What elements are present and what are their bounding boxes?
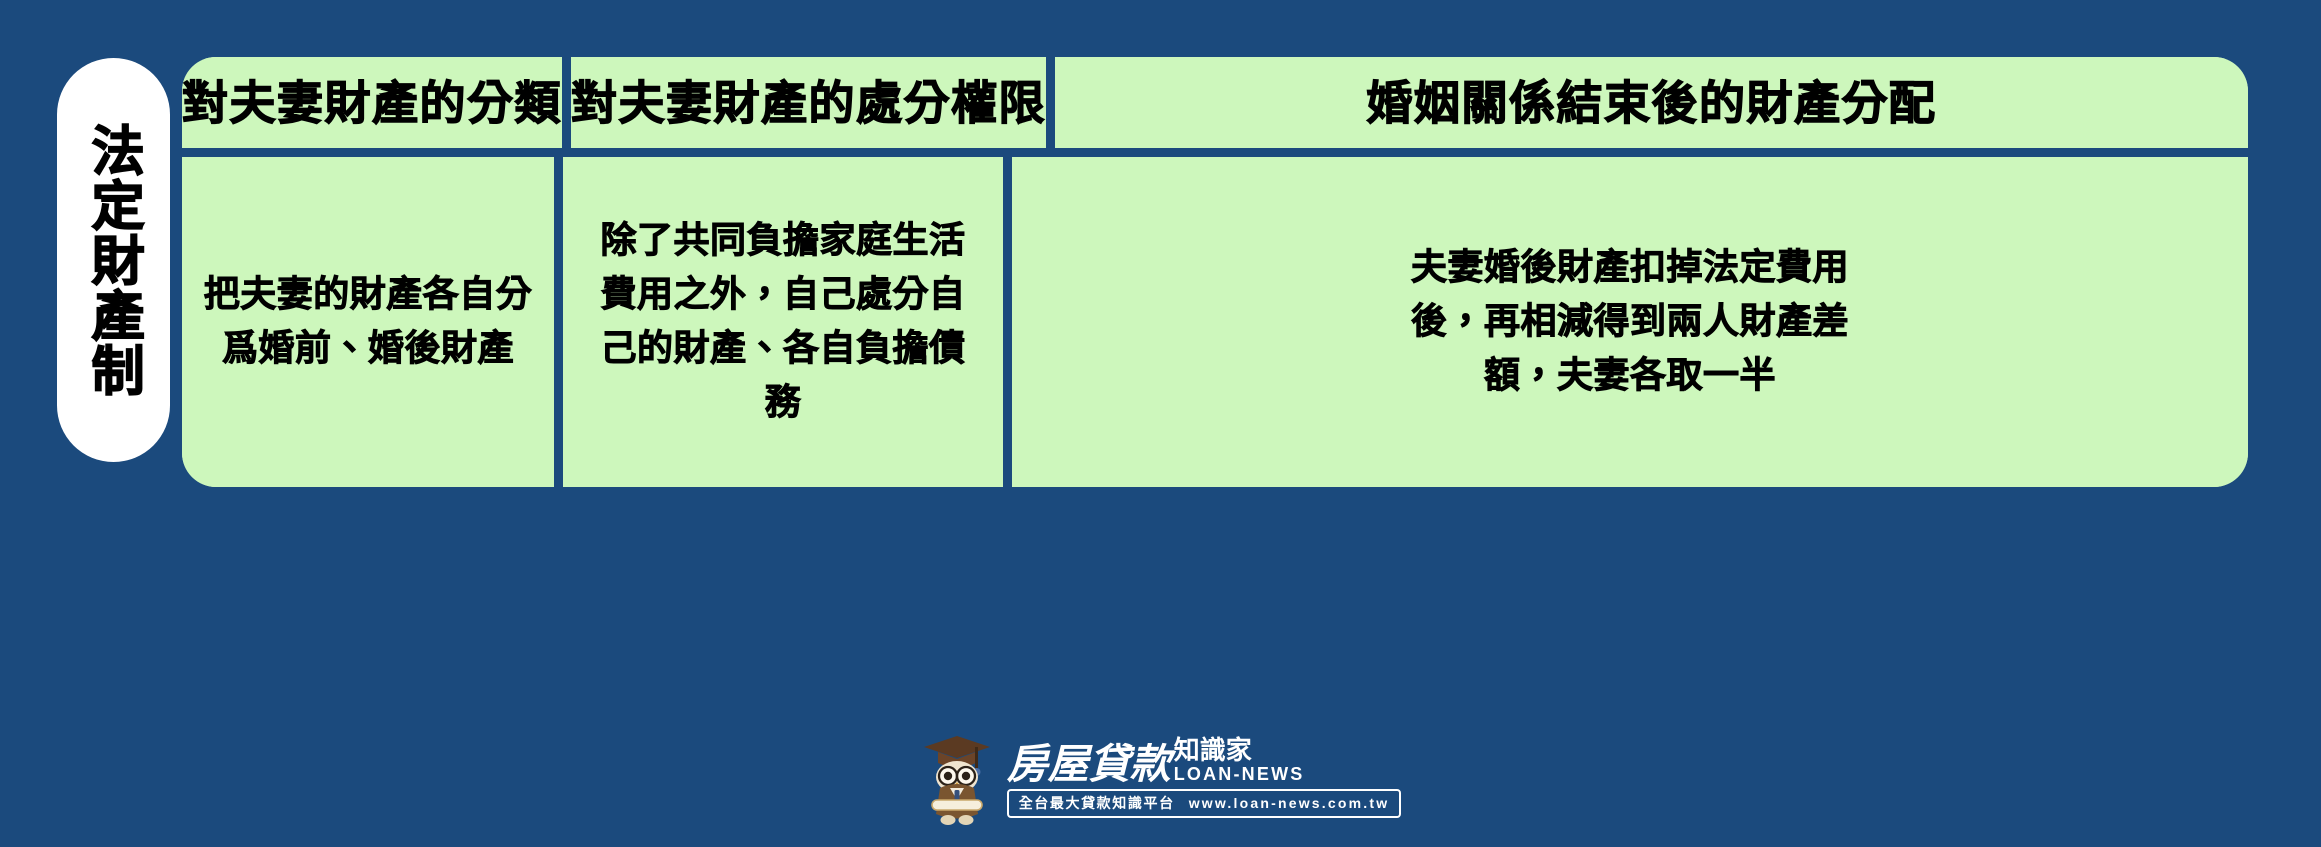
table-header-cell-3: 婚姻關係結束後的財產分配 — [1055, 57, 2248, 148]
brand-lockup: 房屋貸款 知識家 LOAN-NEWS 全台最大貸款知識平台 www.loan-n… — [920, 730, 1402, 826]
column-divider-1 — [562, 57, 571, 148]
brand-website-url[interactable]: www.loan-news.com.tw — [1189, 795, 1390, 811]
side-label-pill: 法定財產制 — [57, 58, 170, 462]
table-grid: 對夫妻財產的分類 對夫妻財產的處分權限 婚姻關係結束後的財產分配 把夫妻的財產各… — [182, 57, 2248, 487]
table-header-cell-2: 對夫妻財產的處分權限 — [571, 57, 1046, 148]
brand-name-sub-wrap: 知識家 LOAN-NEWS — [1174, 738, 1305, 785]
column-divider-4 — [1003, 157, 1012, 487]
owl-graduate-icon — [920, 730, 994, 826]
table-header-row: 對夫妻財產的分類 對夫妻財產的處分權限 婚姻關係結束後的財產分配 — [182, 57, 2248, 148]
table-header-cell-1: 對夫妻財產的分類 — [182, 57, 562, 148]
table-body-cell-2: 除了共同負擔家庭生活費用之外，自己處分自己的財產、各自負擔債務 — [563, 157, 1003, 487]
brand-name-sub-cn: 知識家 — [1174, 738, 1252, 765]
table-header-label-3: 婚姻關係結束後的財產分配 — [1367, 80, 1937, 126]
table-body-text-3: 夫妻婚後財產扣掉法定費用後，再相減得到兩人財產差額，夫妻各取一半 — [1410, 241, 1850, 403]
table-body-row: 把夫妻的財產各自分爲婚前、婚後財產 除了共同負擔家庭生活費用之外，自己處分自己的… — [182, 157, 2248, 487]
brand-name-main: 房屋貸款 — [1007, 744, 1171, 785]
header-body-divider — [182, 148, 2248, 157]
footer-branding: 房屋貸款 知識家 LOAN-NEWS 全台最大貸款知識平台 www.loan-n… — [0, 723, 2321, 833]
infographic-root: 法定財產制 對夫妻財產的分類 對夫妻財產的處分權限 婚姻關係結束後的財產分配 — [0, 0, 2321, 847]
column-divider-3 — [554, 157, 563, 487]
column-divider-2 — [1046, 57, 1055, 148]
comparison-table: 對夫妻財產的分類 對夫妻財產的處分權限 婚姻關係結束後的財產分配 把夫妻的財產各… — [182, 57, 2248, 487]
brand-tagline-bar: 全台最大貸款知識平台 www.loan-news.com.tw — [1007, 789, 1402, 818]
table-body-text-1: 把夫妻的財產各自分爲婚前、婚後財產 — [203, 268, 533, 376]
table-body-cell-3: 夫妻婚後財產扣掉法定費用後，再相減得到兩人財產差額，夫妻各取一半 — [1012, 157, 2248, 487]
brand-tagline-text: 全台最大貸款知識平台 — [1019, 793, 1175, 813]
brand-name-row: 房屋貸款 知識家 LOAN-NEWS — [1007, 738, 1305, 786]
side-label-text: 法定財產制 — [85, 123, 142, 398]
brand-name-sub-en: LOAN-NEWS — [1174, 765, 1305, 785]
table-body-text-2: 除了共同負擔家庭生活費用之外，自己處分自己的財產、各自負擔債務 — [583, 214, 983, 430]
table-header-label-1: 對夫妻財產的分類 — [182, 80, 562, 126]
table-header-label-2: 對夫妻財產的處分權限 — [571, 80, 1046, 126]
brand-text-block: 房屋貸款 知識家 LOAN-NEWS 全台最大貸款知識平台 www.loan-n… — [1007, 738, 1402, 819]
table-body-cell-1: 把夫妻的財產各自分爲婚前、婚後財產 — [182, 157, 554, 487]
